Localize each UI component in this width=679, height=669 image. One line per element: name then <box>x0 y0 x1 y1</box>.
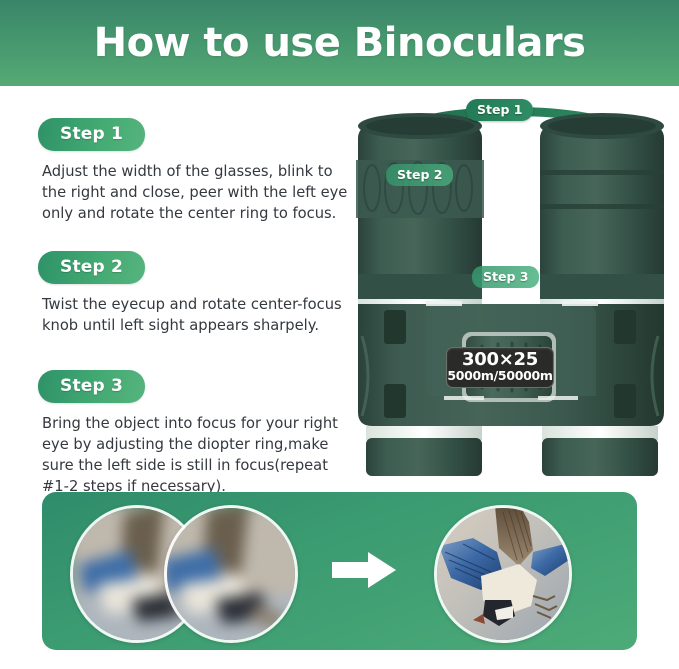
step-text-2: Twist the eyecup and rotate center-focus… <box>42 295 348 337</box>
arrow-right-icon <box>332 550 396 590</box>
objective-lenses <box>366 426 658 476</box>
callout-step-1: Step 1 <box>466 99 533 121</box>
left-barrel <box>356 113 484 308</box>
spec-magnification: 300×25 <box>447 351 553 369</box>
header-banner: How to use Binoculars <box>0 0 679 86</box>
blurred-lens-right <box>164 505 298 643</box>
step-text-3: Bring the object into focus for your rig… <box>42 414 348 498</box>
blurred-bird-image-right <box>164 505 273 643</box>
focused-bird-image <box>434 505 572 643</box>
step-badge-1: Step 1 <box>38 118 145 151</box>
step-block-1: Step 1 Adjust the width of the glasses, … <box>38 118 348 225</box>
callout-step-3: Step 3 <box>472 266 539 288</box>
binoculars-illustration: Step 1 Step 2 Step 3 300×25 5000m/50000m <box>352 96 672 476</box>
spec-plate: 300×25 5000m/50000m <box>446 347 554 388</box>
step-block-3: Step 3 Bring the object into focus for y… <box>38 370 348 498</box>
comparison-panel <box>42 492 637 650</box>
steps-list: Step 1 Adjust the width of the glasses, … <box>38 118 348 516</box>
page-title: How to use Binoculars <box>94 20 586 66</box>
step-badge-3: Step 3 <box>38 370 145 403</box>
callout-step-2: Step 2 <box>386 164 453 186</box>
step-text-1: Adjust the width of the glasses, blink t… <box>42 162 348 225</box>
step-block-2: Step 2 Twist the eyecup and rotate cente… <box>38 251 348 337</box>
spec-range: 5000m/50000m <box>447 369 553 383</box>
focused-lens <box>434 505 572 643</box>
right-barrel <box>540 113 664 308</box>
step-badge-2: Step 2 <box>38 251 145 284</box>
